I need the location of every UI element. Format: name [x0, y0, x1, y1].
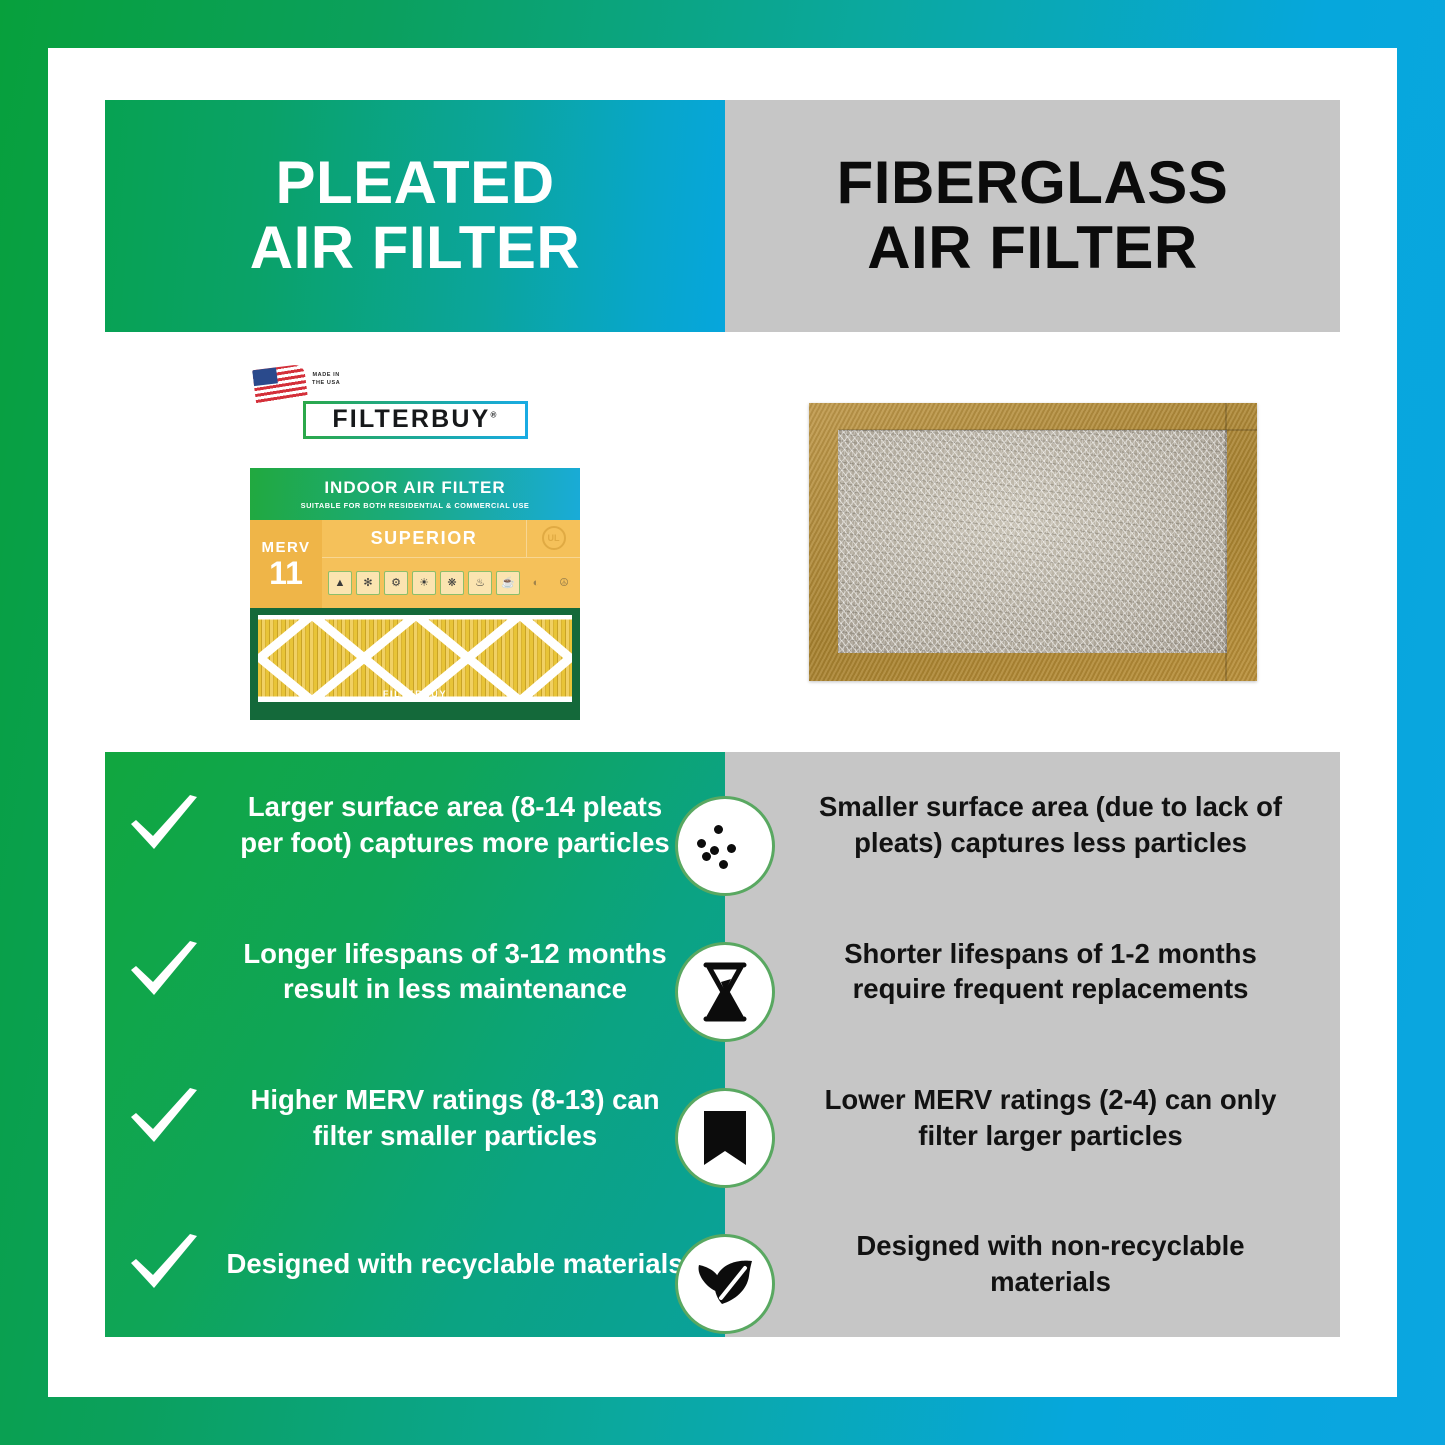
pleated-rows: Larger surface area (8-14 pleats per foo… [105, 752, 725, 1337]
box-merv-block: MERV 11 [250, 520, 322, 608]
icon-slot-4 [671, 1230, 779, 1338]
table-row: Designed with non-recyclable materials [725, 1191, 1340, 1337]
fiberglass-feature-text: Shorter lifespans of 1-2 months require … [725, 936, 1340, 1008]
made-in-line1: MADE IN [312, 371, 340, 379]
pleated-product-cell: MADE IN THE USA FILTERBUY® INDOOR AIR FI… [105, 332, 725, 752]
box-spec-panel: MERV 11 SUPERIOR UL ▲ ✻ ⚙ ☀ ❋ [250, 520, 580, 608]
header-band: PLEATED AIR FILTER FIBERGLASS AIR FILTER [105, 100, 1340, 332]
fiberglass-feature-text: Designed with non-recyclable materials [725, 1228, 1340, 1300]
frame-seam-vertical [1225, 403, 1227, 681]
box-brand-name: FILTERBUY® [332, 405, 498, 434]
box-feature-icon-strip: ▲ ✻ ⚙ ☀ ❋ ♨ ☕ ◐ ☮ [328, 564, 576, 602]
fiberglass-filter-image [809, 403, 1257, 681]
table-row: Lower MERV ratings (2-4) can only filter… [725, 1045, 1340, 1191]
header-pleated-title: PLEATED AIR FILTER [250, 151, 581, 281]
box-brand-text: FILTERBUY [332, 405, 490, 433]
made-in-line2: THE USA [312, 379, 340, 387]
box-filter-media: FILTERBUY [250, 608, 580, 720]
header-fiberglass: FIBERGLASS AIR FILTER [725, 100, 1340, 332]
smoke-icon: ☕ [496, 571, 520, 595]
table-row: Higher MERV ratings (8-13) can filter sm… [105, 1045, 725, 1191]
mold-icon: ☀ [412, 571, 436, 595]
fiberglass-rows: Smaller surface area (due to lack of ple… [725, 752, 1340, 1337]
allergen-icon: ❋ [440, 571, 464, 595]
content-card: PLEATED AIR FILTER FIBERGLASS AIR FILTER… [105, 100, 1340, 1337]
pleated-feature-text: Higher MERV ratings (8-13) can filter sm… [223, 1082, 725, 1154]
pet-dander-icon: ♨ [468, 571, 492, 595]
particle-dots [697, 822, 753, 870]
table-row: Longer lifespans of 3-12 months result i… [105, 898, 725, 1044]
pollen-icon: ✻ [356, 571, 380, 595]
pleat-texture: FILTERBUY [258, 615, 572, 702]
made-in-usa-label: MADE IN THE USA [312, 371, 340, 388]
bookmark-icon [675, 1088, 775, 1188]
ul-seal-text: UL [542, 526, 566, 550]
box-tier-row: SUPERIOR UL [322, 520, 580, 558]
table-row: Smaller surface area (due to lack of ple… [725, 752, 1340, 898]
bacteria-icon: ⚙ [384, 571, 408, 595]
icon-slot-3 [671, 1084, 779, 1192]
frame-seam-horizontal [839, 429, 1257, 431]
smog-icon: ☮ [552, 571, 576, 595]
check-icon [105, 1087, 223, 1149]
header-pleated-line2: AIR FILTER [250, 216, 581, 281]
box-brand-frame: FILTERBUY® [303, 401, 528, 439]
icon-slot-2 [671, 938, 779, 1046]
fiberglass-feature-text: Smaller surface area (due to lack of ple… [725, 789, 1340, 861]
fiberglass-mesh [838, 430, 1227, 653]
pleated-feature-text: Larger surface area (8-14 pleats per foo… [223, 789, 725, 861]
fiberglass-drawbacks-panel: Smaller surface area (due to lack of ple… [725, 752, 1340, 1337]
pleated-benefits-panel: Larger surface area (8-14 pleats per foo… [105, 752, 725, 1337]
check-icon [105, 794, 223, 856]
product-image-band: MADE IN THE USA FILTERBUY® INDOOR AIR FI… [105, 332, 1340, 752]
header-fiberglass-line1: FIBERGLASS [837, 151, 1229, 216]
table-row: Shorter lifespans of 1-2 months require … [725, 898, 1340, 1044]
box-indoor-band: INDOOR AIR FILTER SUITABLE FOR BOTH RESI… [250, 468, 580, 520]
table-row: Larger surface area (8-14 pleats per foo… [105, 752, 725, 898]
comparison-band: Larger surface area (8-14 pleats per foo… [105, 752, 1340, 1337]
fiberglass-feature-text: Lower MERV ratings (2-4) can only filter… [725, 1082, 1340, 1154]
check-icon [105, 940, 223, 1002]
header-fiberglass-line2: AIR FILTER [837, 216, 1229, 281]
box-bottom-brand: FILTERBUY [258, 689, 572, 699]
box-brand-tm: ® [491, 411, 499, 420]
box-band-sub: SUITABLE FOR BOTH RESIDENTIAL & COMMERCI… [301, 501, 530, 510]
leaf-icon [675, 1234, 775, 1334]
particles-icon [675, 796, 775, 896]
odor-icon: ◐ [524, 571, 548, 595]
header-pleated-line1: PLEATED [250, 151, 581, 216]
ul-seal-icon: UL [526, 520, 580, 557]
check-icon [105, 1233, 223, 1295]
table-row: Designed with recyclable materials [105, 1191, 725, 1337]
pleated-feature-text: Designed with recyclable materials [223, 1246, 725, 1282]
header-pleated: PLEATED AIR FILTER [105, 100, 725, 332]
box-merv-label: MERV [261, 539, 310, 556]
pleated-feature-text: Longer lifespans of 3-12 months result i… [223, 936, 725, 1008]
box-band-main: INDOOR AIR FILTER [324, 478, 505, 498]
box-merv-value: 11 [269, 557, 303, 589]
filterbuy-box-image: MADE IN THE USA FILTERBUY® INDOOR AIR FI… [250, 365, 580, 720]
usa-flag-icon [252, 365, 308, 404]
comparison-infographic: PLEATED AIR FILTER FIBERGLASS AIR FILTER… [0, 0, 1445, 1445]
header-fiberglass-title: FIBERGLASS AIR FILTER [837, 151, 1229, 281]
fiberglass-product-cell [725, 332, 1340, 752]
dust-icon: ▲ [328, 571, 352, 595]
hourglass-icon [675, 942, 775, 1042]
icon-slot-1 [671, 792, 779, 900]
box-tier-label: SUPERIOR [322, 528, 526, 549]
